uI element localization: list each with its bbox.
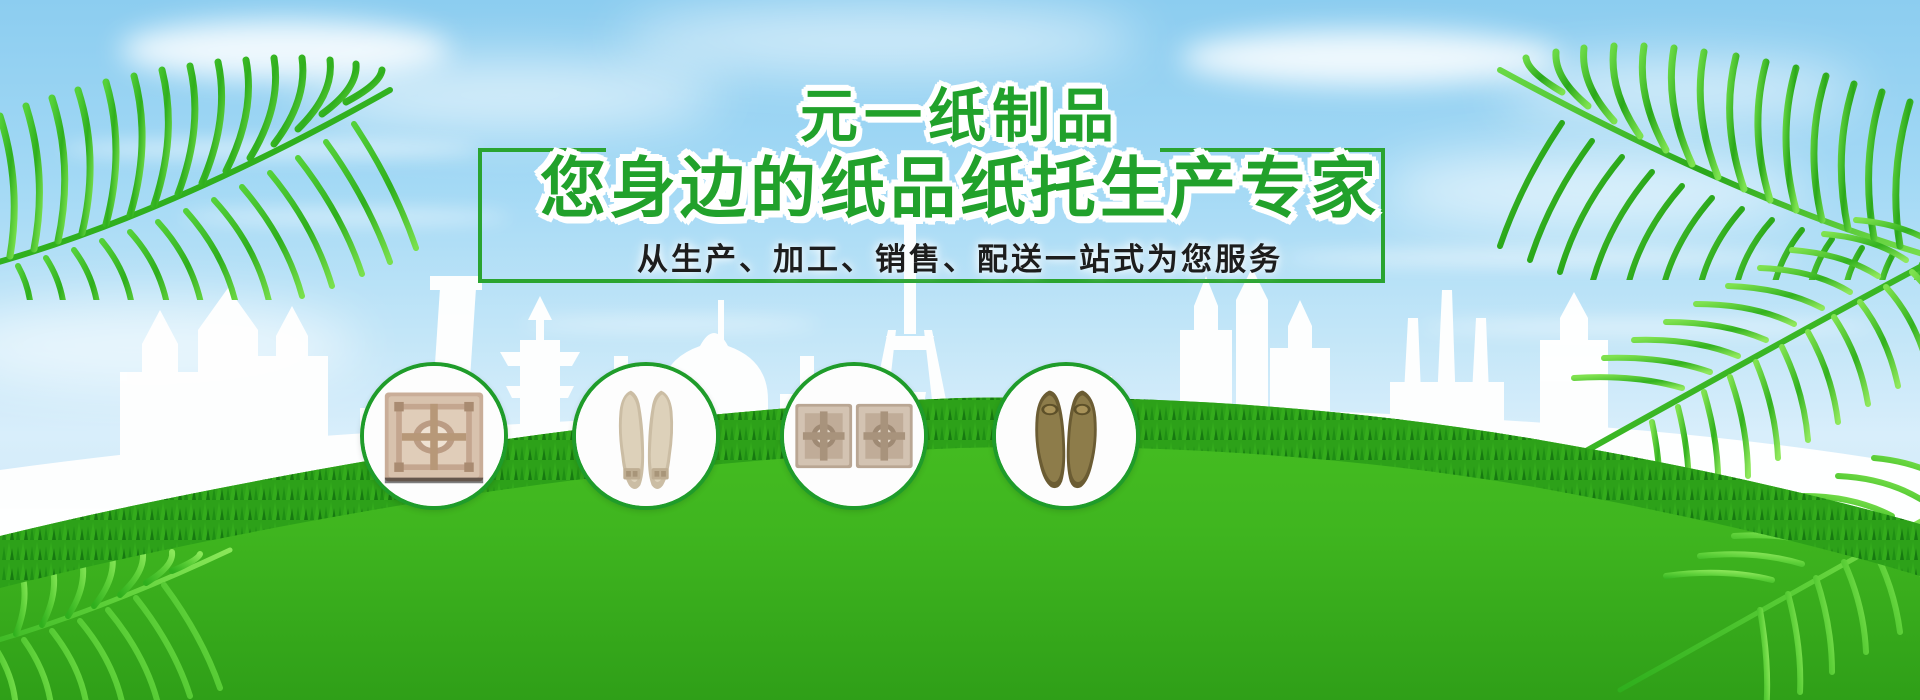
square-paper-pulp-tray-image — [364, 366, 504, 506]
banner-title-line-2: 您身边的纸品纸托生产专家 — [0, 150, 1920, 226]
dark-paper-pulp-shoe-last-image — [996, 366, 1136, 506]
promo-banner: 元一纸制品 您身边的纸品纸托生产专家 从生产、加工、销售、配送一站式为您服务 — [0, 0, 1920, 700]
product-circle-dark-paper-pulp-shoe-last[interactable] — [992, 362, 1140, 510]
banner-title-line-1: 元一纸制品 — [0, 86, 1920, 148]
product-circle-paper-pulp-shoe-tree[interactable] — [572, 362, 720, 510]
banner-subtitle: 从生产、加工、销售、配送一站式为您服务 — [0, 240, 1920, 280]
paper-pulp-packing-pair-image — [784, 366, 924, 506]
paper-pulp-shoe-tree-image — [576, 366, 716, 506]
product-circle-paper-pulp-packing-pair[interactable] — [780, 362, 928, 510]
product-circle-square-paper-pulp-tray[interactable] — [360, 362, 508, 510]
